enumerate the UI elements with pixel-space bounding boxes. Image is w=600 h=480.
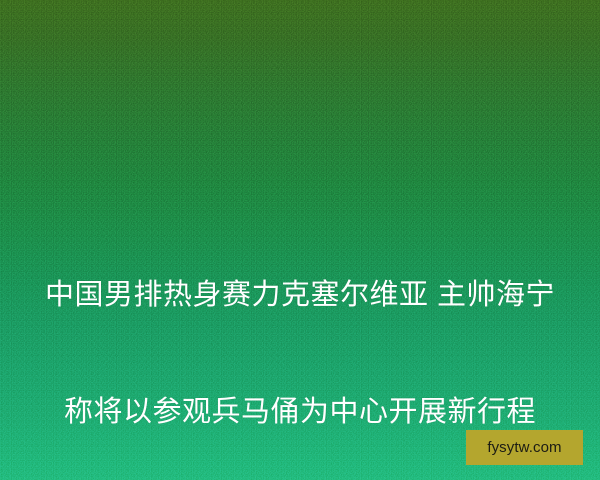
headline-line-1: 中国男排热身赛力克塞尔维亚 主帅海宁 bbox=[0, 276, 600, 315]
watermark-badge: fysytw.com bbox=[466, 430, 583, 465]
image-canvas: 中国男排热身赛力克塞尔维亚 主帅海宁 称将以参观兵马俑为中心开展新行程 fysy… bbox=[0, 0, 600, 480]
headline-line-2: 称将以参观兵马俑为中心开展新行程 bbox=[0, 393, 600, 432]
watermark-label: fysytw.com bbox=[487, 440, 561, 455]
